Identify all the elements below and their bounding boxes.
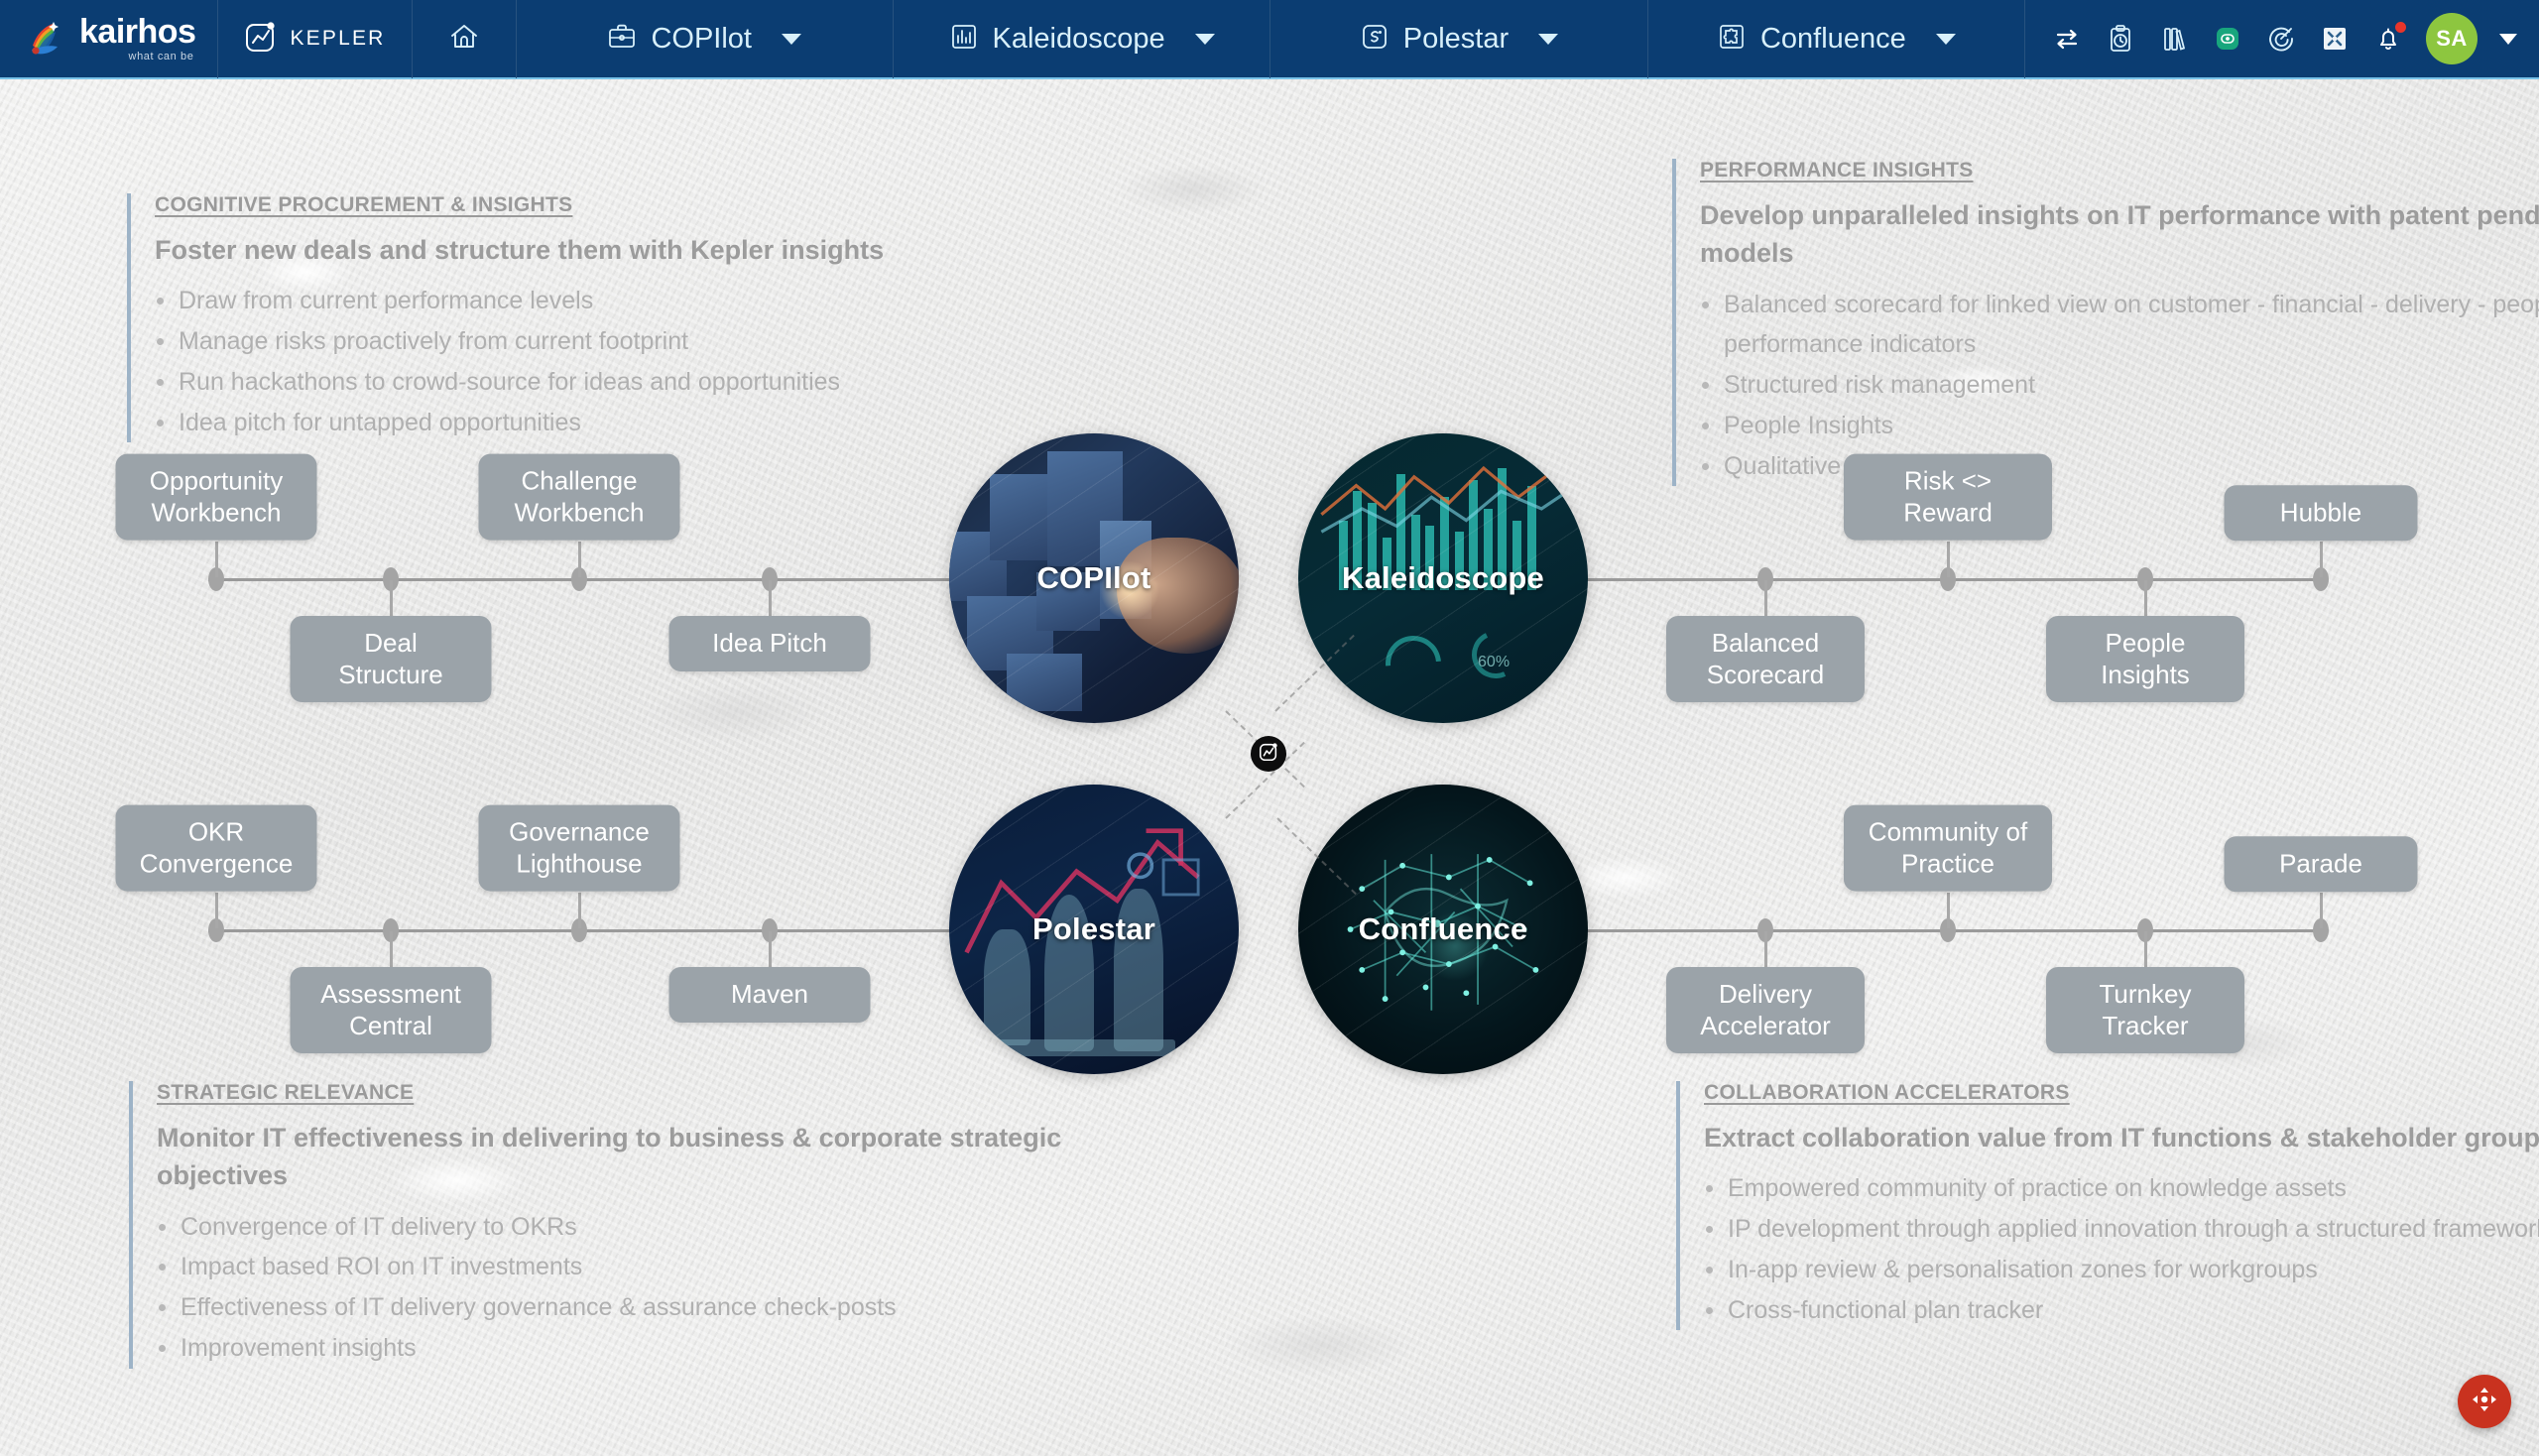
module-circle-polestar[interactable]: Polestar — [949, 785, 1239, 1074]
info-eyebrow: COGNITIVE PROCUREMENT & INSIGHTS — [155, 193, 1119, 217]
avatar[interactable]: SA — [2426, 13, 2478, 64]
kepler-product-link[interactable]: KEPLER — [218, 0, 411, 78]
info-headline: Foster new deals and structure them with… — [155, 231, 1119, 269]
module-circle-copilot[interactable]: COPIlot — [949, 433, 1239, 723]
library-books-icon[interactable] — [2158, 23, 2190, 55]
connector-stem — [578, 893, 581, 928]
chevron-down-icon[interactable] — [1936, 34, 1956, 45]
list-item: Cross-functional plan tracker — [1704, 1290, 2539, 1331]
pill-okr-convergence[interactable]: OKR Convergence — [116, 805, 317, 892]
info-bullet-list: Balanced scorecard for linked view on cu… — [1700, 285, 2539, 487]
info-block-cognitive-procurement: COGNITIVE PROCUREMENT & INSIGHTS Foster … — [127, 193, 1119, 442]
module-label: Polestar — [1032, 911, 1155, 947]
list-item: People Insights — [1700, 406, 2539, 446]
tab-label: Kaleidoscope — [993, 23, 1165, 56]
tab-confluence[interactable]: Confluence — [1648, 0, 2024, 78]
kairhos-butterfly-logo — [24, 16, 69, 61]
home-button[interactable] — [413, 0, 516, 78]
row-kaleidoscope-right: Balanced Scorecard Risk <> Reward People… — [0, 578, 2539, 579]
pill-maven[interactable]: Maven — [669, 967, 871, 1023]
row-confluence-right: Delivery Accelerator Community of Practi… — [0, 929, 2539, 930]
pill-risk-reward[interactable]: Risk <> Reward — [1844, 454, 2052, 541]
notification-badge — [2394, 21, 2407, 34]
move-arrows-icon — [2470, 1385, 2499, 1419]
reposition-fab-button[interactable] — [2458, 1375, 2511, 1428]
green-app-icon[interactable] — [2212, 23, 2243, 55]
connector-stem — [2320, 542, 2323, 577]
chevron-down-icon[interactable] — [1195, 34, 1215, 45]
kepler-label: KEPLER — [290, 27, 385, 51]
pill-balanced-scorecard[interactable]: Balanced Scorecard — [1666, 616, 1865, 702]
target-radar-icon[interactable] — [2265, 23, 2297, 55]
pill-hubble[interactable]: Hubble — [2225, 485, 2418, 541]
clipboard-clock-icon[interactable] — [2105, 23, 2136, 55]
connector-stem — [1764, 931, 1767, 967]
pill-parade[interactable]: Parade — [2225, 836, 2418, 892]
list-item: Qualitative feedback — [1700, 446, 2539, 487]
compass-s-icon — [1360, 22, 1390, 57]
list-item: Empowered community of practice on knowl… — [1704, 1168, 2539, 1209]
module-label: COPIlot — [1036, 560, 1150, 596]
top-navigation-bar: kairhos what can be KEPLER — [0, 0, 2539, 79]
tab-label: COPIlot — [651, 23, 752, 56]
info-bullet-list: Draw from current performance levels Man… — [155, 281, 1119, 442]
module-label: Confluence — [1359, 911, 1528, 947]
pill-turnkey-tracker[interactable]: Turnkey Tracker — [2046, 967, 2244, 1053]
chevron-down-icon[interactable] — [2499, 34, 2517, 45]
pill-community-of-practice[interactable]: Community of Practice — [1844, 805, 2052, 892]
puzzle-icon — [1717, 22, 1747, 57]
list-item: Manage risks proactively from current fo… — [155, 321, 1119, 362]
tab-kaleidoscope[interactable]: Kaleidoscope — [894, 0, 1269, 78]
connector-stem — [2320, 893, 2323, 928]
info-bullet-list: Empowered community of practice on knowl… — [1704, 1168, 2539, 1330]
connector-stem — [390, 580, 393, 616]
nav-action-cluster: SA — [2025, 0, 2539, 78]
connector-stem — [1764, 580, 1767, 616]
info-block-collaboration-accelerators: COLLABORATION ACCELERATORS Extract colla… — [1676, 1081, 2539, 1330]
tab-label: Confluence — [1760, 23, 1906, 56]
pill-opportunity-workbench[interactable]: Opportunity Workbench — [116, 454, 317, 541]
list-item: Structured risk management — [1700, 365, 2539, 406]
connector-stem — [578, 542, 581, 577]
info-bullet-list: Convergence of IT delivery to OKRs Impac… — [157, 1207, 1121, 1369]
tools-icon[interactable] — [2319, 23, 2351, 55]
list-item: Draw from current performance levels — [155, 281, 1119, 321]
list-item: Improvement insights — [157, 1328, 1121, 1369]
brand-home-link[interactable]: kairhos what can be — [0, 0, 217, 78]
tab-polestar[interactable]: Polestar — [1270, 0, 1646, 78]
tab-copilot[interactable]: COPIlot — [517, 0, 893, 78]
list-item: Effectiveness of IT delivery governance … — [157, 1287, 1121, 1328]
connector-stem — [215, 542, 218, 577]
module-circle-kaleidoscope[interactable]: 60% Kaleidoscope — [1298, 433, 1588, 723]
brand-tagline: what can be — [129, 52, 196, 62]
briefcase-icon — [607, 22, 637, 57]
info-block-performance-insights: PERFORMANCE INSIGHTS Develop unparallele… — [1672, 159, 2539, 486]
connector-stem — [2144, 931, 2147, 967]
connector-stem — [1947, 893, 1950, 928]
connector-stem — [769, 580, 772, 616]
connector-stem — [2144, 580, 2147, 616]
list-item: Balanced scorecard for linked view on cu… — [1700, 285, 2539, 366]
list-item: IP development through applied innovatio… — [1704, 1209, 2539, 1250]
info-eyebrow: PERFORMANCE INSIGHTS — [1700, 159, 2539, 182]
kepler-hub-icon — [1258, 741, 1279, 768]
list-item: Convergence of IT delivery to OKRs — [157, 1207, 1121, 1248]
tab-label: Polestar — [1403, 23, 1509, 56]
connector-stem — [215, 893, 218, 928]
connector-stem — [1947, 542, 1950, 577]
pill-assessment-central[interactable]: Assessment Central — [291, 967, 492, 1053]
info-eyebrow: STRATEGIC RELEVANCE — [157, 1081, 1121, 1105]
info-block-strategic-relevance: STRATEGIC RELEVANCE Monitor IT effective… — [129, 1081, 1121, 1369]
notifications-bell-icon[interactable] — [2372, 23, 2404, 55]
bar-chart-icon — [949, 22, 979, 57]
connector-stem — [390, 931, 393, 967]
chevron-down-icon[interactable] — [1538, 34, 1558, 45]
hub-button[interactable] — [1251, 736, 1286, 772]
brand-name: kairhos — [79, 15, 195, 49]
pill-delivery-accelerator[interactable]: Delivery Accelerator — [1666, 967, 1865, 1053]
list-item: Run hackathons to crowd-source for ideas… — [155, 362, 1119, 403]
chevron-down-icon[interactable] — [782, 34, 801, 45]
home-icon — [447, 20, 481, 59]
pill-people-insights[interactable]: People Insights — [2046, 616, 2244, 702]
list-item: In-app review & personalisation zones fo… — [1704, 1250, 2539, 1290]
info-headline: Extract collaboration value from IT func… — [1704, 1119, 2539, 1156]
module-circle-confluence[interactable]: Confluence — [1298, 785, 1588, 1074]
info-eyebrow: COLLABORATION ACCELERATORS — [1704, 1081, 2539, 1105]
kepler-chart-icon — [244, 20, 278, 59]
pill-governance-lighthouse[interactable]: Governance Lighthouse — [479, 805, 680, 892]
pill-idea-pitch[interactable]: Idea Pitch — [669, 616, 871, 671]
pill-challenge-workbench[interactable]: Challenge Workbench — [479, 454, 680, 541]
connector-stem — [769, 931, 772, 967]
list-item: Impact based ROI on IT investments — [157, 1247, 1121, 1287]
info-headline: Monitor IT effectiveness in delivering t… — [157, 1119, 1121, 1195]
diagram-canvas: COGNITIVE PROCUREMENT & INSIGHTS Foster … — [0, 79, 2539, 1456]
switch-icon[interactable] — [2051, 23, 2083, 55]
info-headline: Develop unparalleled insights on IT perf… — [1700, 196, 2539, 273]
module-label: Kaleidoscope — [1342, 560, 1544, 596]
pill-deal-structure[interactable]: Deal Structure — [291, 616, 492, 702]
